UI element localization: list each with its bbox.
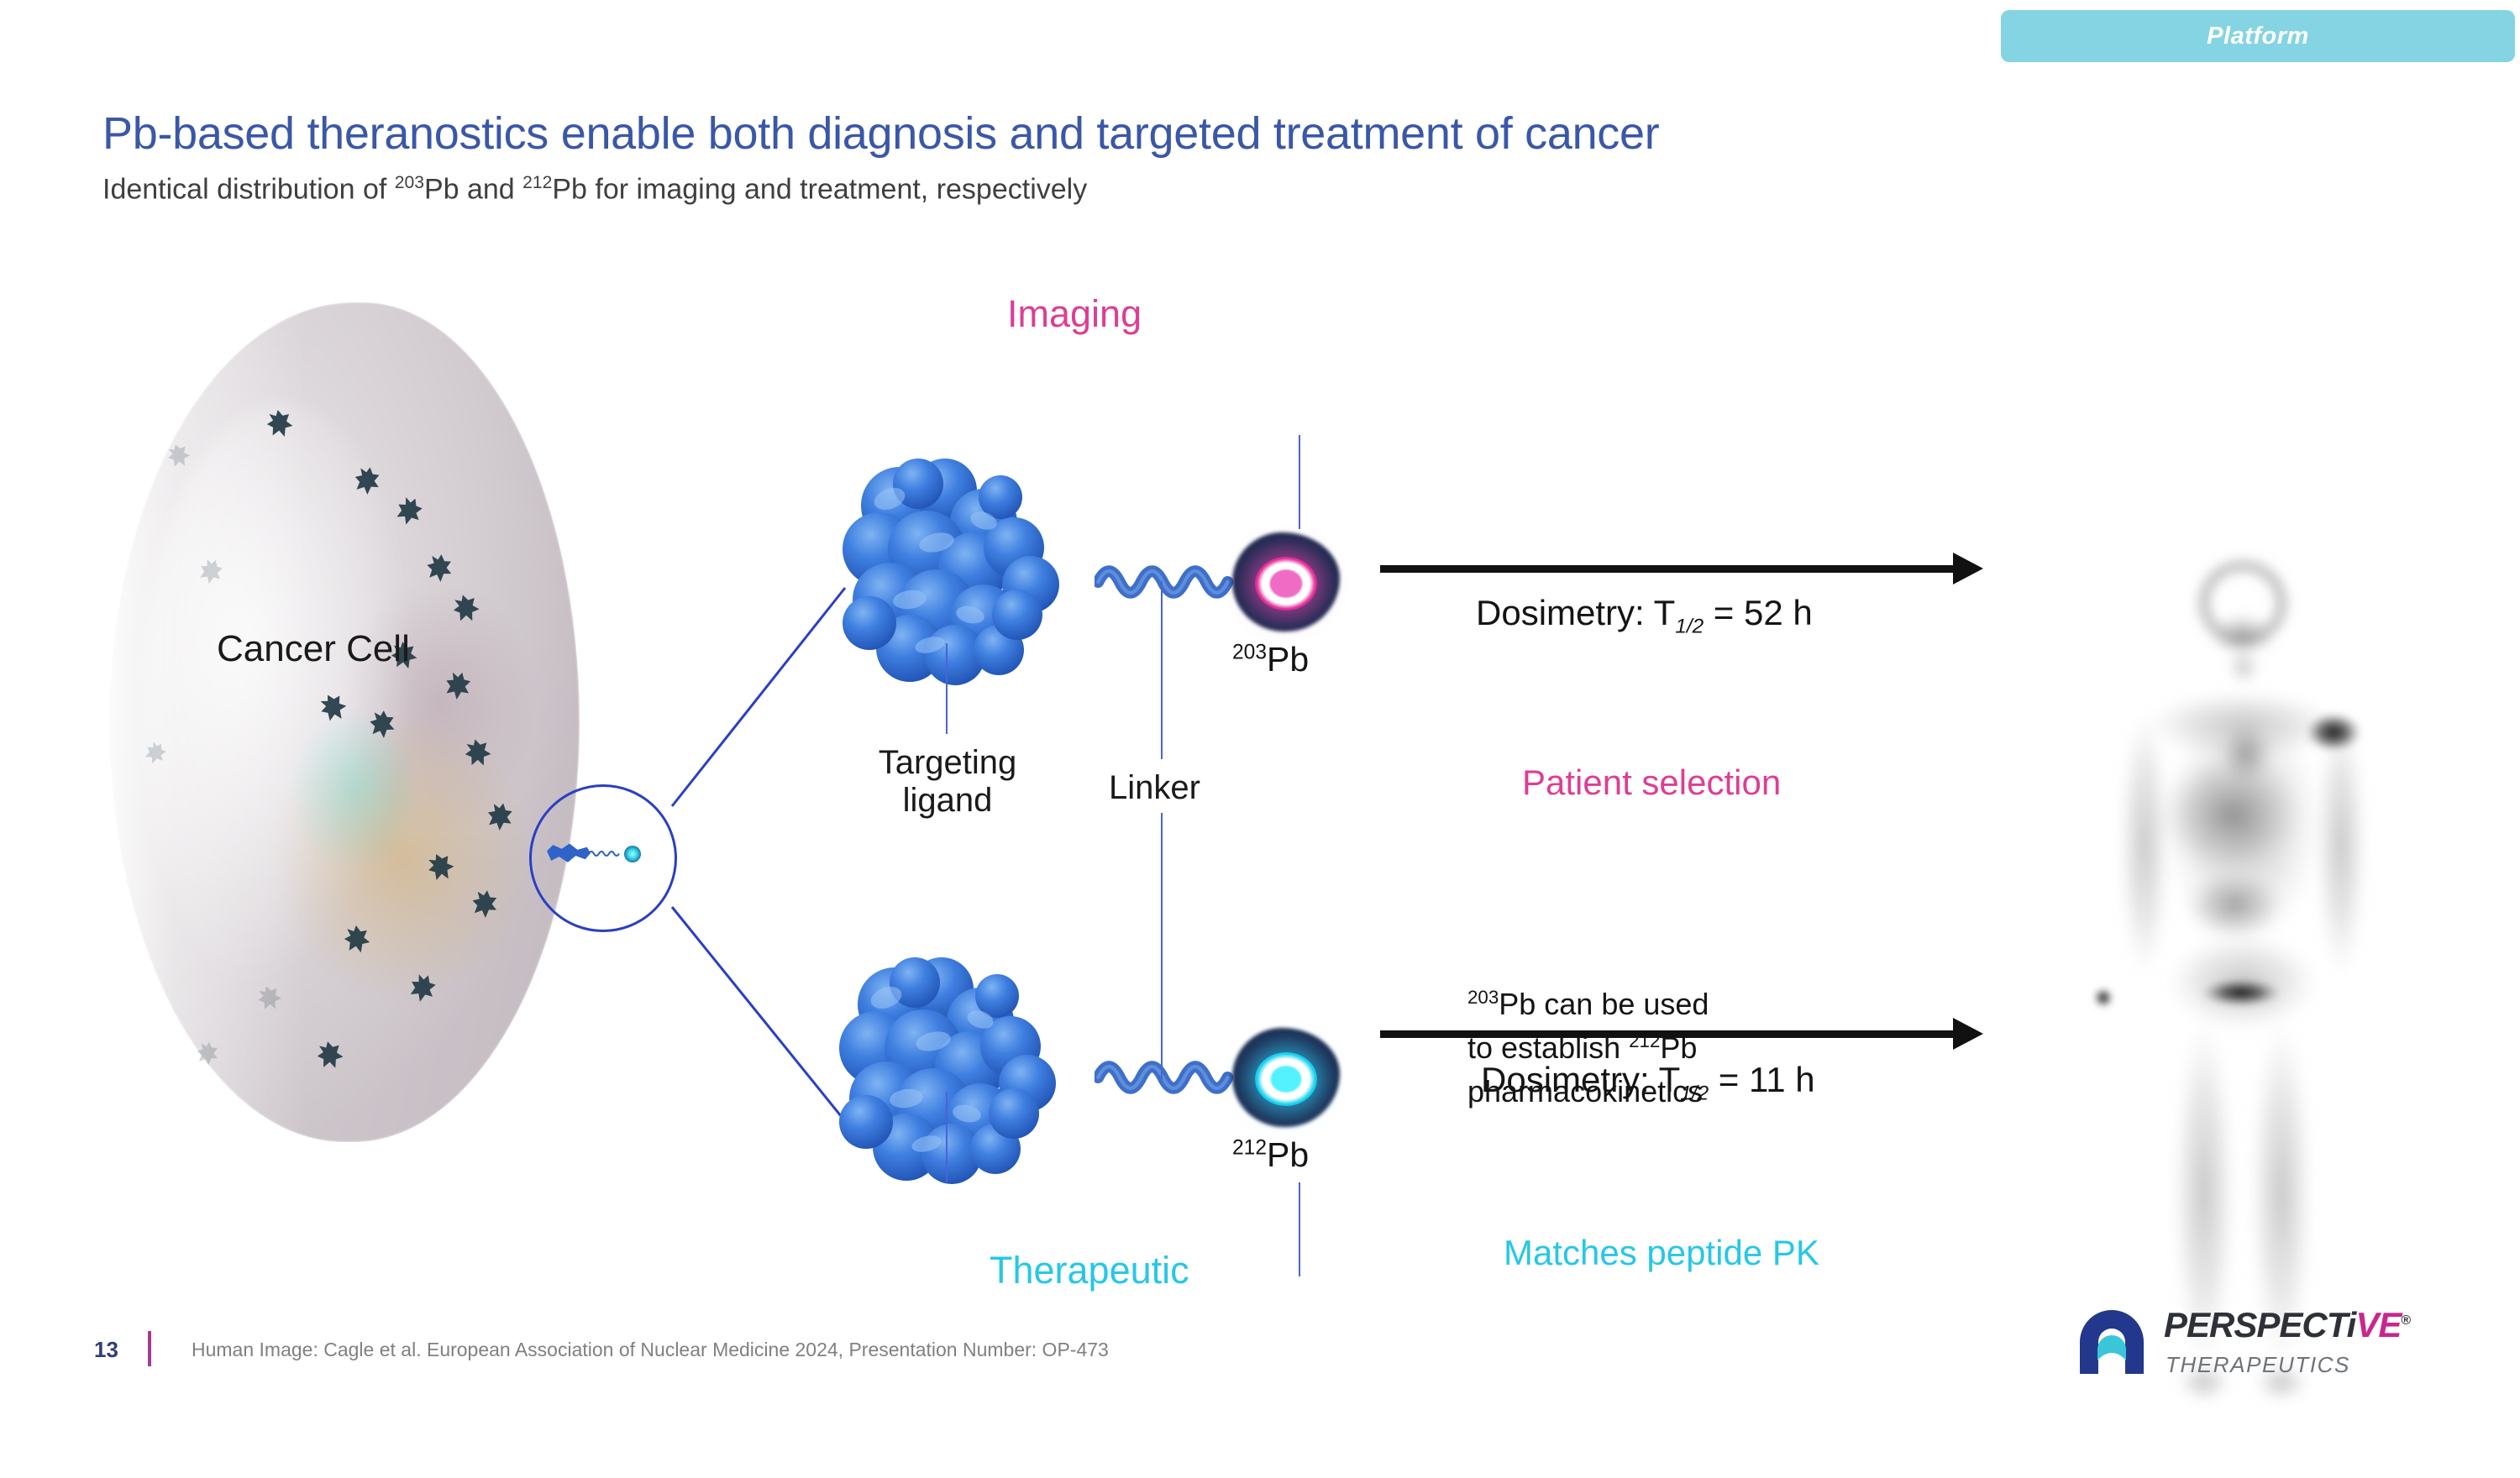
targeting-ligand-protein-top — [819, 450, 1121, 702]
leader-line-pb212 — [1299, 1182, 1300, 1276]
therapeutic-section-label: Therapeutic — [990, 1249, 1189, 1292]
page-number: 13 — [94, 1337, 118, 1363]
pk-note-203-sup: 203 — [1467, 987, 1499, 1008]
subtitle-isotope-203-el: Pb — [424, 173, 459, 205]
receptor-magnifier-callout — [529, 784, 677, 932]
chelate-core — [1255, 557, 1317, 611]
targeting-ligand-label-line1: Targeting — [850, 744, 1045, 782]
company-logo: PERSPECTiVE® THERAPEUTICS — [2073, 1300, 2493, 1392]
linker-label-text: Linker — [1109, 769, 1200, 806]
isotope-212-element: Pb — [1267, 1135, 1309, 1174]
logo-subtitle: THERAPEUTICS — [2166, 1352, 2350, 1378]
isotope-label-pb203: 203Pb — [1232, 640, 1309, 679]
chelate-core — [1255, 1052, 1317, 1106]
targeting-ligand-label: Targeting ligand — [850, 744, 1045, 820]
imaging-section-label: Imaging — [1007, 292, 1142, 336]
imaging-flow-arrow — [1380, 559, 1983, 578]
subtitle-mid: and — [459, 173, 523, 205]
arrow-head-icon — [1953, 553, 1983, 584]
cancer-cell-illustration — [92, 302, 613, 1142]
bound-chelate — [624, 846, 641, 862]
targeting-ligand-protein-bottom — [819, 946, 1121, 1198]
therapeutic-dosimetry-caption: Dosimetry: T1/2 = 11 h — [1481, 1060, 1815, 1105]
leader-line-linker-up — [1161, 581, 1163, 759]
linker-coil-top — [1095, 558, 1247, 606]
therapeutic-dosimetry-prefix: Dosimetry: T — [1481, 1060, 1680, 1099]
cancer-cell-highlight — [143, 403, 420, 1008]
pk-note-line-1: 203Pb can be used — [1467, 983, 1829, 1026]
therapeutic-drug-construct — [819, 946, 1382, 1223]
cancer-cell-label: Cancer Cell — [217, 628, 410, 670]
imaging-dosimetry-prefix: Dosimetry: T — [1476, 593, 1675, 632]
patient-selection-caption: Patient selection — [1522, 763, 1781, 803]
imaging-dosimetry-caption: Dosimetry: T1/2 = 52 h — [1476, 593, 1813, 638]
logo-registered-mark: ® — [2401, 1313, 2410, 1328]
leader-line-pb203 — [1299, 435, 1300, 529]
therapeutic-flow-arrow — [1380, 1025, 1983, 1043]
leader-line-linker-down — [1161, 813, 1163, 1080]
subtitle-isotope-212-sup: 212 — [522, 173, 552, 192]
isotope-203-superscript: 203 — [1232, 641, 1267, 663]
imaging-dosimetry-value: = 52 h — [1704, 593, 1813, 632]
logo-wordmark: PERSPECTiVE® — [2164, 1305, 2410, 1345]
linker-label: Linker — [1109, 769, 1200, 807]
footer-citation: Human Image: Cagle et al. European Assoc… — [192, 1339, 1109, 1361]
therapeutic-dosimetry-value: = 11 h — [1709, 1060, 1815, 1099]
logo-wordmark-i: i — [2347, 1305, 2356, 1344]
bound-linker-coil — [589, 849, 624, 858]
bound-ligand-blob — [547, 842, 591, 864]
imaging-dosimetry-sub: 1/2 — [1675, 615, 1704, 637]
footer-divider — [148, 1331, 151, 1366]
matches-peptide-pk-caption: Matches peptide PK — [1504, 1233, 1819, 1273]
logo-wordmark-part1: PERSPECT — [2164, 1305, 2347, 1344]
pb212-chelate — [1232, 1028, 1340, 1127]
leader-line-targeting-ligand-up — [946, 643, 948, 734]
subtitle-isotope-212-el: Pb — [552, 173, 587, 205]
arrow-shaft — [1380, 565, 1956, 573]
logo-wordmark-ve: VE — [2355, 1305, 2401, 1344]
therapeutic-dosimetry-sub: 1/2 — [1680, 1082, 1709, 1104]
isotope-label-pb212: 212Pb — [1232, 1135, 1309, 1175]
perspective-logo-mark-icon — [2073, 1303, 2150, 1381]
arrow-head-icon — [1953, 1018, 1983, 1050]
pk-note-line1-text: Pb can be used — [1499, 987, 1709, 1021]
isotope-212-superscript: 212 — [1232, 1136, 1267, 1159]
imaging-drug-construct — [819, 450, 1382, 727]
theranostics-diagram: Cancer Cell — [0, 252, 2520, 1285]
leader-line-targeting-ligand-down — [946, 1092, 948, 1182]
platform-badge-label: Platform — [2207, 23, 2309, 50]
page-title: Pb-based theranostics enable both diagno… — [102, 107, 1659, 160]
bound-drug-illustration — [547, 842, 648, 864]
platform-badge: Platform — [2001, 10, 2515, 62]
isotope-203-element: Pb — [1267, 640, 1309, 679]
page-subtitle: Identical distribution of 203Pb and 212P… — [102, 173, 1087, 206]
subtitle-suffix: for imaging and treatment, respectively — [587, 173, 1087, 205]
linker-coil-bottom — [1095, 1053, 1247, 1102]
subtitle-isotope-203-sup: 203 — [395, 173, 424, 192]
subtitle-prefix: Identical distribution of — [102, 173, 395, 205]
targeting-ligand-label-line2: ligand — [850, 782, 1045, 820]
arrow-shaft — [1380, 1030, 1956, 1038]
pb203-chelate — [1232, 532, 1340, 632]
